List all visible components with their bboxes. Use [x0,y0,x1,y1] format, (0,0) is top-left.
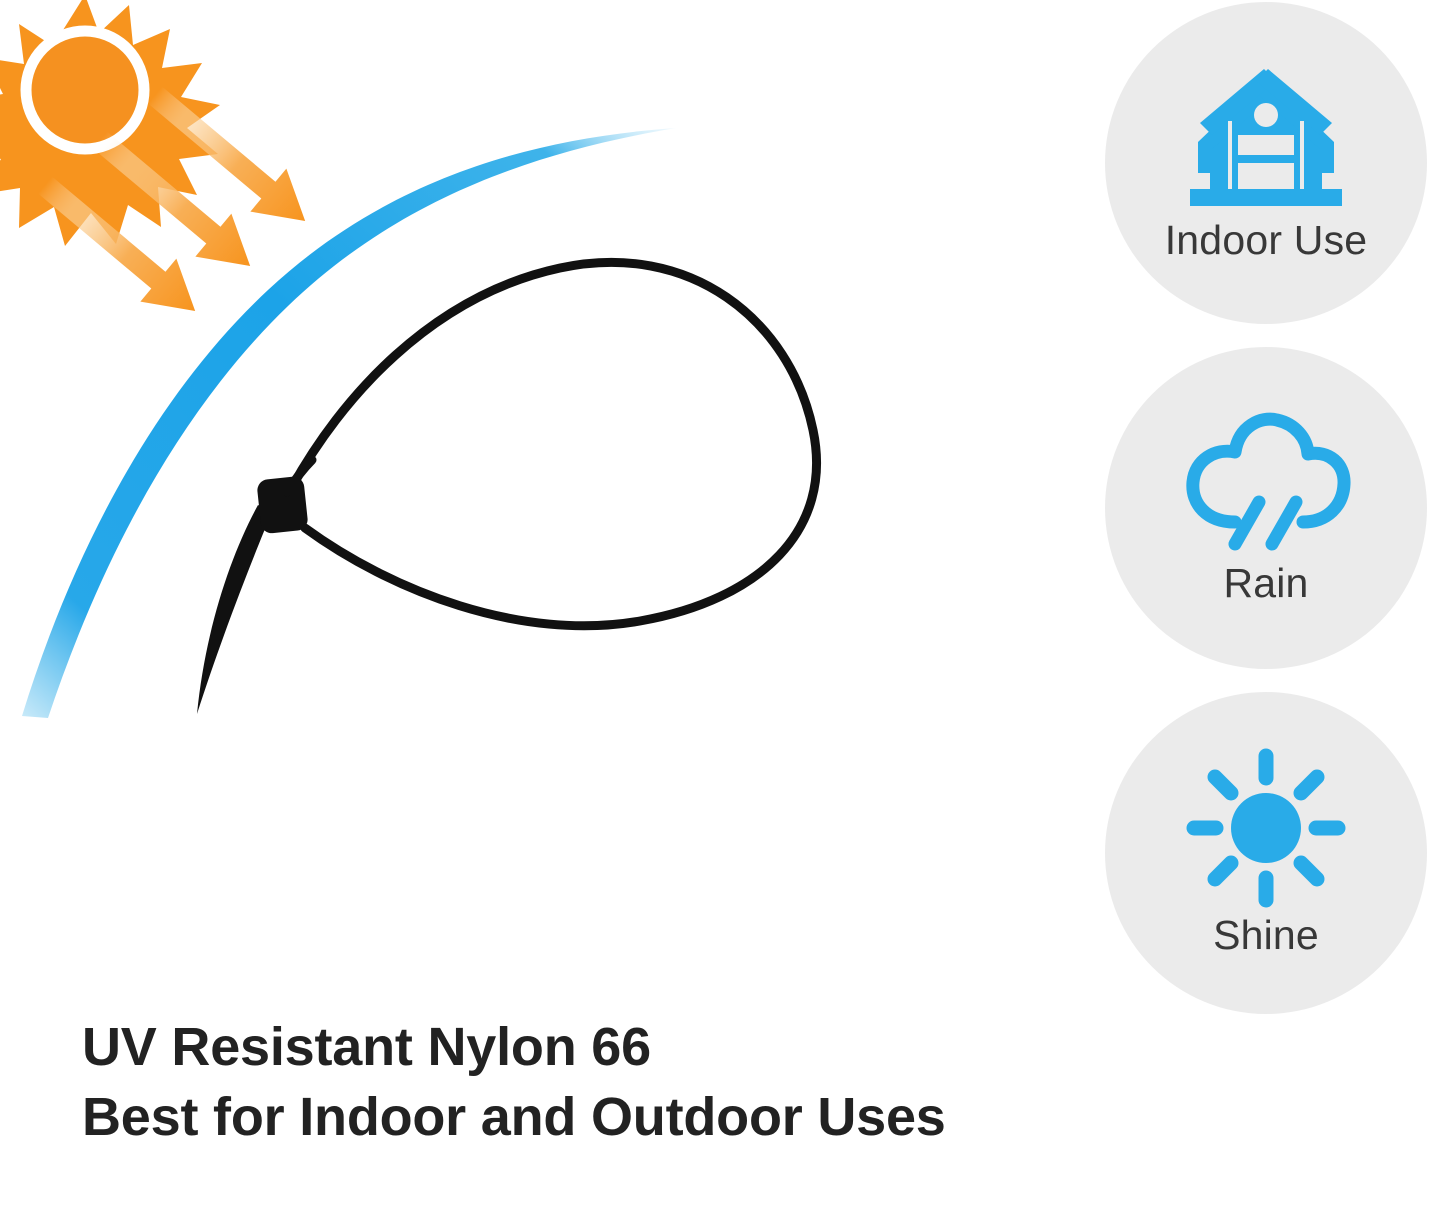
cable-tie-loop-icon [197,262,817,714]
sun-icon [1186,748,1346,908]
infographic-page: Indoor Use Rain [0,0,1432,1211]
badge-label: Rain [1223,560,1308,607]
badge-shine[interactable]: Shine [1105,692,1427,1014]
headline-block: UV Resistant Nylon 66 Best for Indoor an… [82,1012,1022,1152]
badge-indoor-use[interactable]: Indoor Use [1105,2,1427,324]
badge-label: Shine [1213,912,1319,959]
badge-rain[interactable]: Rain [1105,347,1427,669]
uv-resistant-cable-tie-illustration [0,0,1080,1000]
house-icon [1176,63,1356,213]
feature-badge-column: Indoor Use Rain [1105,0,1432,1015]
badge-label: Indoor Use [1165,217,1368,264]
headline-line-2: Best for Indoor and Outdoor Uses [82,1082,1022,1152]
headline-line-1: UV Resistant Nylon 66 [82,1012,1022,1082]
cloud-rain-icon [1177,410,1355,556]
